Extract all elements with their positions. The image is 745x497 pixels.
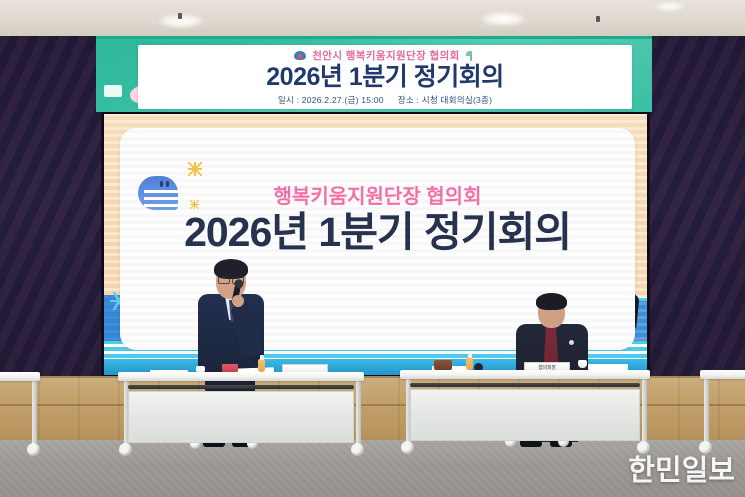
table-caster [119,443,132,456]
table-leg [704,378,709,444]
table-top [700,370,745,379]
screen-title: 2026년 1분기 정기회의 [120,210,635,255]
ceiling-sprinkler-icon [178,13,182,19]
banner-text-panel: 천안시 행복키움지원단장 협의회 2026년 1분기 정기회의 일시 : 202… [138,45,632,109]
sprout-icon [466,51,476,61]
table-rail [128,385,354,389]
table-top [0,372,40,381]
curtain-panel-right [649,36,745,389]
water-bottle-icon [258,359,265,372]
table-caster [27,443,40,456]
table-modesty-panel [410,389,640,441]
table-modesty-panel [128,391,354,443]
table-caster [401,441,414,454]
conference-photo: 천안시 행복키움지원단장 협의회 2026년 1분기 정기회의 일시 : 202… [0,0,745,497]
table-leg [356,380,361,446]
cup-icon [578,360,587,368]
card-icon [104,85,122,97]
ceiling [0,0,745,40]
banner-org-line: 천안시 행복키움지원단장 협의회 [294,48,475,63]
banner-title: 2026년 1분기 정기회의 [266,64,503,90]
ceiling-sprinkler-icon [596,16,600,22]
table-top [400,370,650,379]
wood-box-item [434,360,452,370]
table-top [118,372,364,381]
curtain-panel-left [0,36,102,389]
banner-location: 장소 : 시청 대회의실(3층) [398,94,492,106]
speaker-hand [232,295,244,307]
banner-details: 일시 : 2026.2.27.(금) 15:00 장소 : 시청 대회의실(3층… [278,94,492,106]
banner-datetime: 일시 : 2026.2.27.(금) 15:00 [278,94,384,106]
lapel-badge-icon [569,340,574,345]
publisher-watermark: 한민일보 [628,447,735,489]
table-caster [351,443,364,456]
table-leg [32,380,37,446]
red-box-item [222,364,238,372]
screen-subtitle: 행복키움지원단장 협의회 [120,180,635,209]
table-rail [410,383,640,387]
event-banner: 천안시 행복키움지원단장 협의회 2026년 1분기 정기회의 일시 : 202… [96,36,652,112]
sparkle-graphic [188,162,202,176]
official-hair [536,293,567,310]
city-emblem-icon [294,51,306,60]
ceiling-light-icon [655,2,685,11]
table-leg [642,378,647,444]
banner-org-text: 천안시 행복키움지원단장 협의회 [312,48,459,63]
water-bottle-icon [466,357,473,370]
ceiling-light-icon [480,12,526,26]
